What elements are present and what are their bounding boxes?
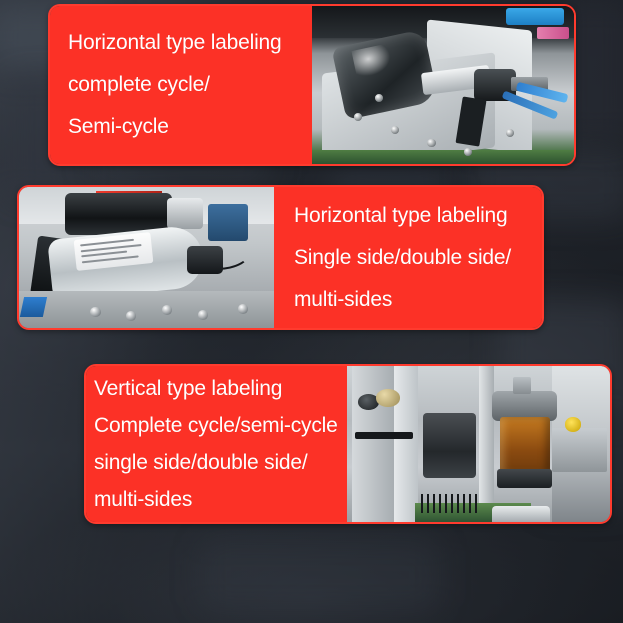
card-3-line-1: Vertical type labeling [94, 370, 338, 407]
card-horizontal-single-double-multi-sides[interactable]: Horizontal type labeling Single side/dou… [17, 185, 544, 330]
card-1-line-3: Semi-cycle [68, 106, 282, 148]
card-1-line-1: Horizontal type labeling [68, 22, 282, 64]
card-3-line-4: multi-sides [94, 481, 338, 518]
card-3-text-panel: Vertical type labeling Complete cycle/se… [86, 366, 347, 522]
card-3-line-3: single side/double side/ [94, 444, 338, 481]
card-1-line-2: complete cycle/ [68, 64, 282, 106]
card-vertical-type-labeling[interactable]: Vertical type labeling Complete cycle/se… [84, 364, 612, 524]
horizontal-labeler-bottle-with-label-photo [19, 187, 274, 328]
card-2-line-2: Single side/double side/ [294, 237, 511, 279]
card-2-text-panel: Horizontal type labeling Single side/dou… [274, 187, 544, 328]
vertical-labeler-amber-vial-photo [347, 366, 610, 522]
card-2-line-3: multi-sides [294, 279, 511, 321]
card-2-line-1: Horizontal type labeling [294, 195, 511, 237]
card-3-line-2: Complete cycle/semi-cycle [94, 407, 338, 444]
card-horizontal-complete-semi-cycle[interactable]: Horizontal type labeling complete cycle/… [48, 4, 576, 166]
card-1-text-panel: Horizontal type labeling complete cycle/… [50, 6, 312, 164]
horizontal-labeler-clear-bottle-photo [312, 6, 574, 164]
